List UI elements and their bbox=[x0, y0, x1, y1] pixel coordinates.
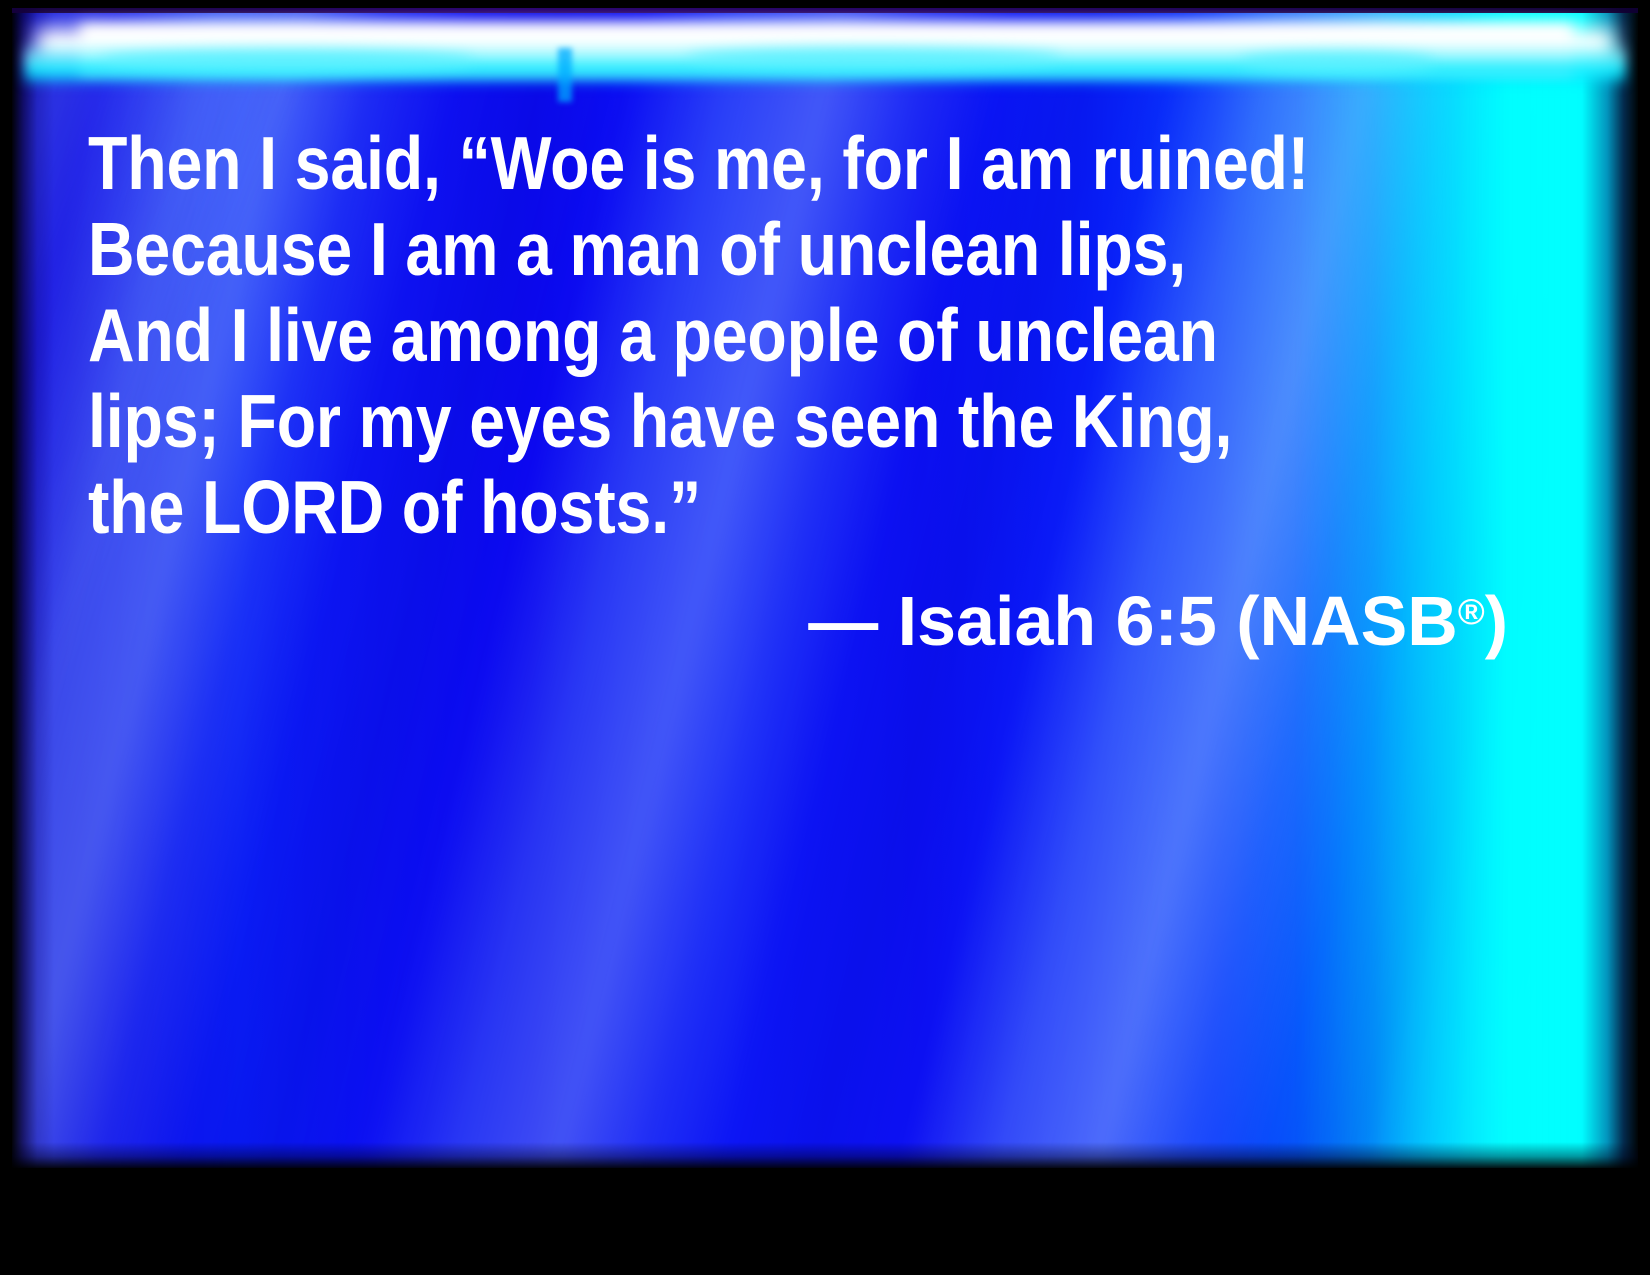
attribution-main: — Isaiah 6:5 (NASB bbox=[808, 582, 1458, 660]
edge-vignette-right bbox=[1582, 8, 1638, 1168]
verse-attribution: — Isaiah 6:5 (NASB®) bbox=[88, 550, 1508, 663]
verse-text: Then I said, “Woe is me, for I am ruined… bbox=[88, 120, 1309, 550]
attribution-close-paren: ) bbox=[1485, 582, 1508, 660]
registered-trademark-icon: ® bbox=[1458, 591, 1485, 632]
slide-frame: Then I said, “Woe is me, for I am ruined… bbox=[0, 0, 1650, 1275]
verse-block: Then I said, “Woe is me, for I am ruined… bbox=[88, 120, 1508, 663]
edge-vignette-left bbox=[12, 8, 54, 1168]
slide-canvas: Then I said, “Woe is me, for I am ruined… bbox=[12, 8, 1638, 1168]
edge-vignette-bottom bbox=[12, 1142, 1638, 1168]
